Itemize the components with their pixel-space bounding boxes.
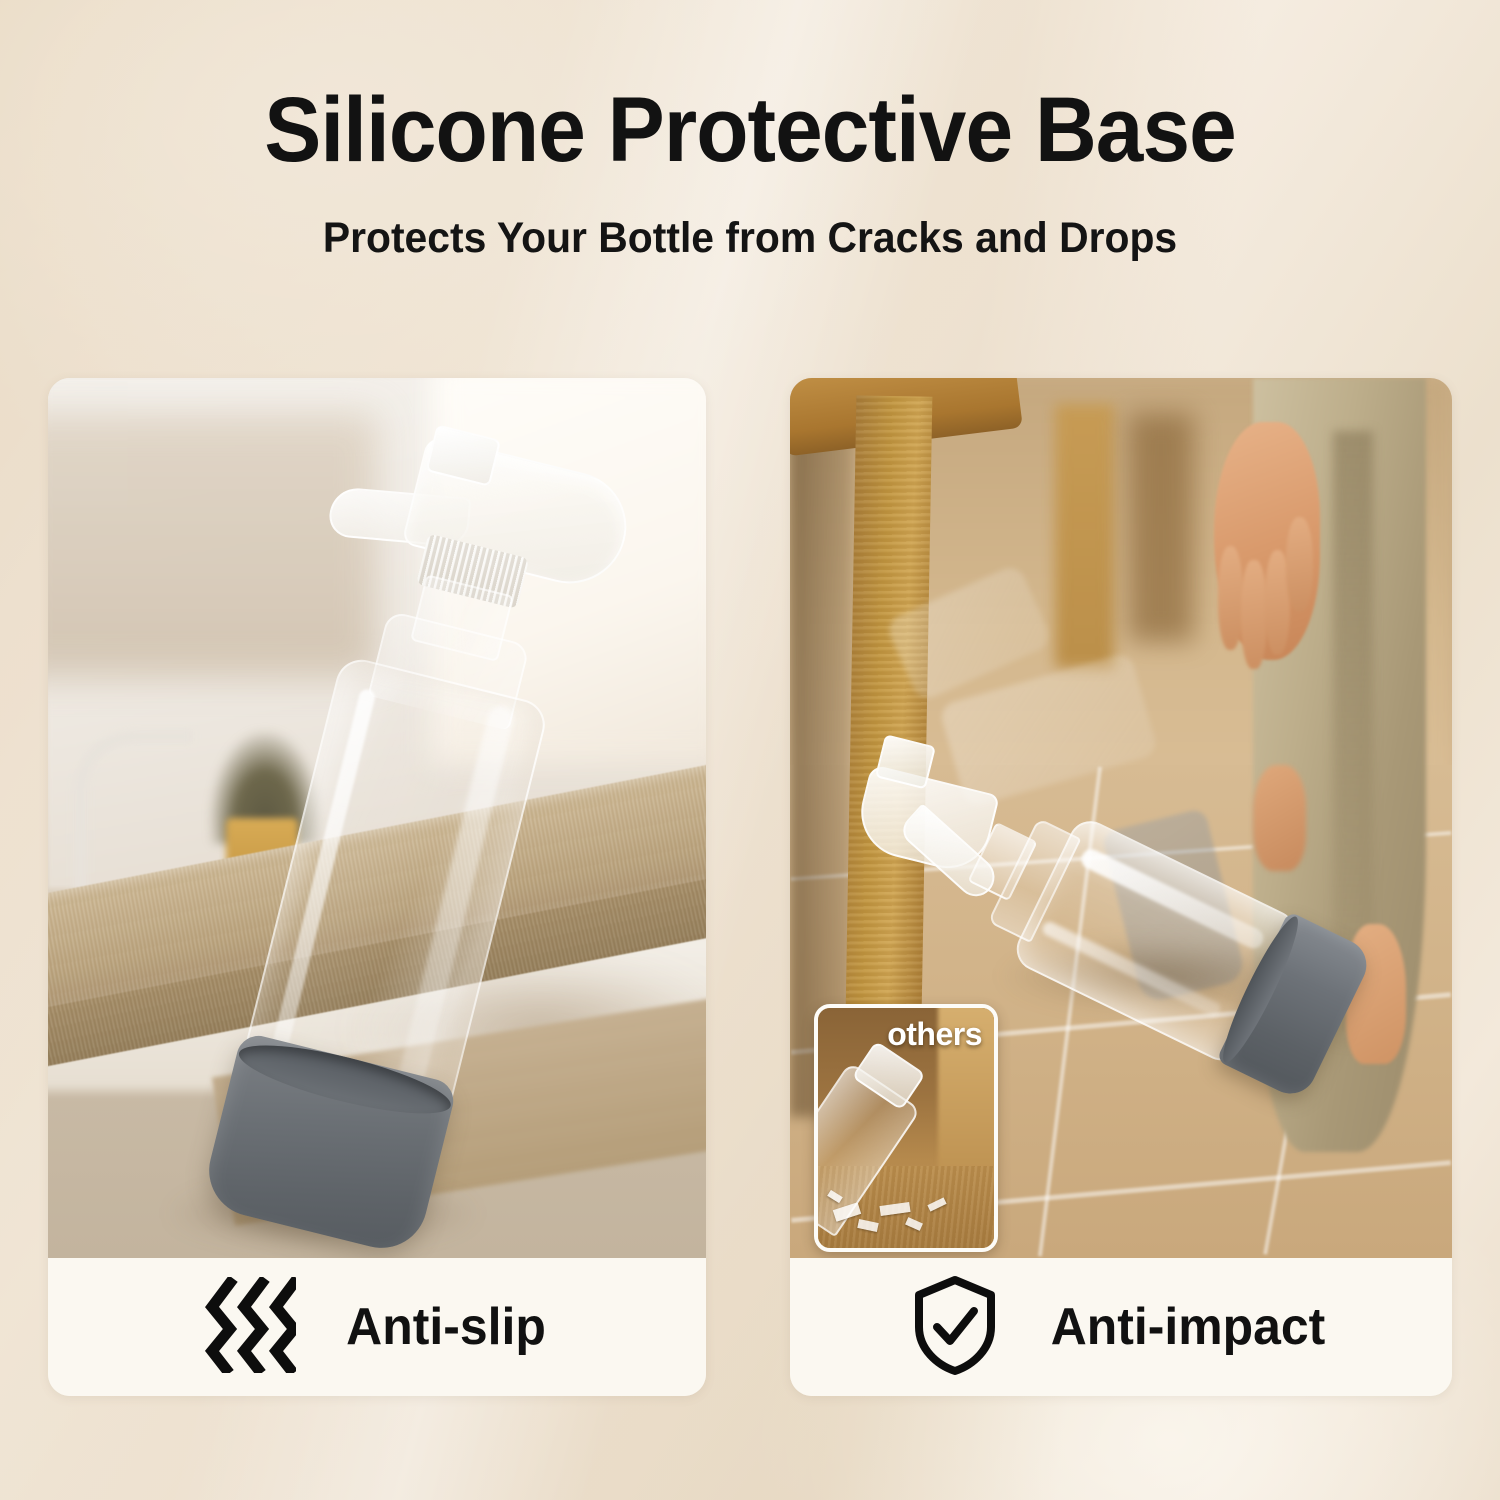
anti-impact-photo: others bbox=[790, 378, 1452, 1258]
header: Silicone Protective Base Protects Your B… bbox=[0, 84, 1500, 263]
page-title: Silicone Protective Base bbox=[53, 84, 1448, 176]
anti-slip-photo bbox=[48, 378, 706, 1258]
person-hand bbox=[1214, 422, 1320, 660]
feature-card-anti-impact[interactable]: others Anti-impact bbox=[790, 378, 1452, 1396]
shield-check-icon bbox=[911, 1275, 999, 1380]
zigzag-lines-icon bbox=[204, 1277, 296, 1378]
page-subtitle: Protects Your Bottle from Cracks and Dro… bbox=[38, 214, 1463, 263]
finger bbox=[1241, 560, 1266, 669]
anti-slip-label-strip: Anti-slip bbox=[48, 1258, 706, 1396]
others-comparison-inset[interactable]: others bbox=[814, 1004, 998, 1252]
thumb bbox=[1286, 517, 1314, 612]
others-label: others bbox=[887, 1016, 982, 1053]
anti-impact-label-strip: Anti-impact bbox=[790, 1258, 1452, 1396]
person-foot-back bbox=[1253, 765, 1306, 871]
anti-impact-label: Anti-impact bbox=[1051, 1297, 1326, 1357]
anti-slip-label: Anti-slip bbox=[346, 1297, 546, 1357]
background-shadow-gap bbox=[1128, 413, 1194, 642]
infographic-page: Silicone Protective Base Protects Your B… bbox=[0, 0, 1500, 1500]
finger bbox=[1218, 546, 1243, 651]
feature-card-anti-slip[interactable]: Anti-slip bbox=[48, 378, 706, 1396]
background-furniture-leg bbox=[1055, 404, 1115, 668]
